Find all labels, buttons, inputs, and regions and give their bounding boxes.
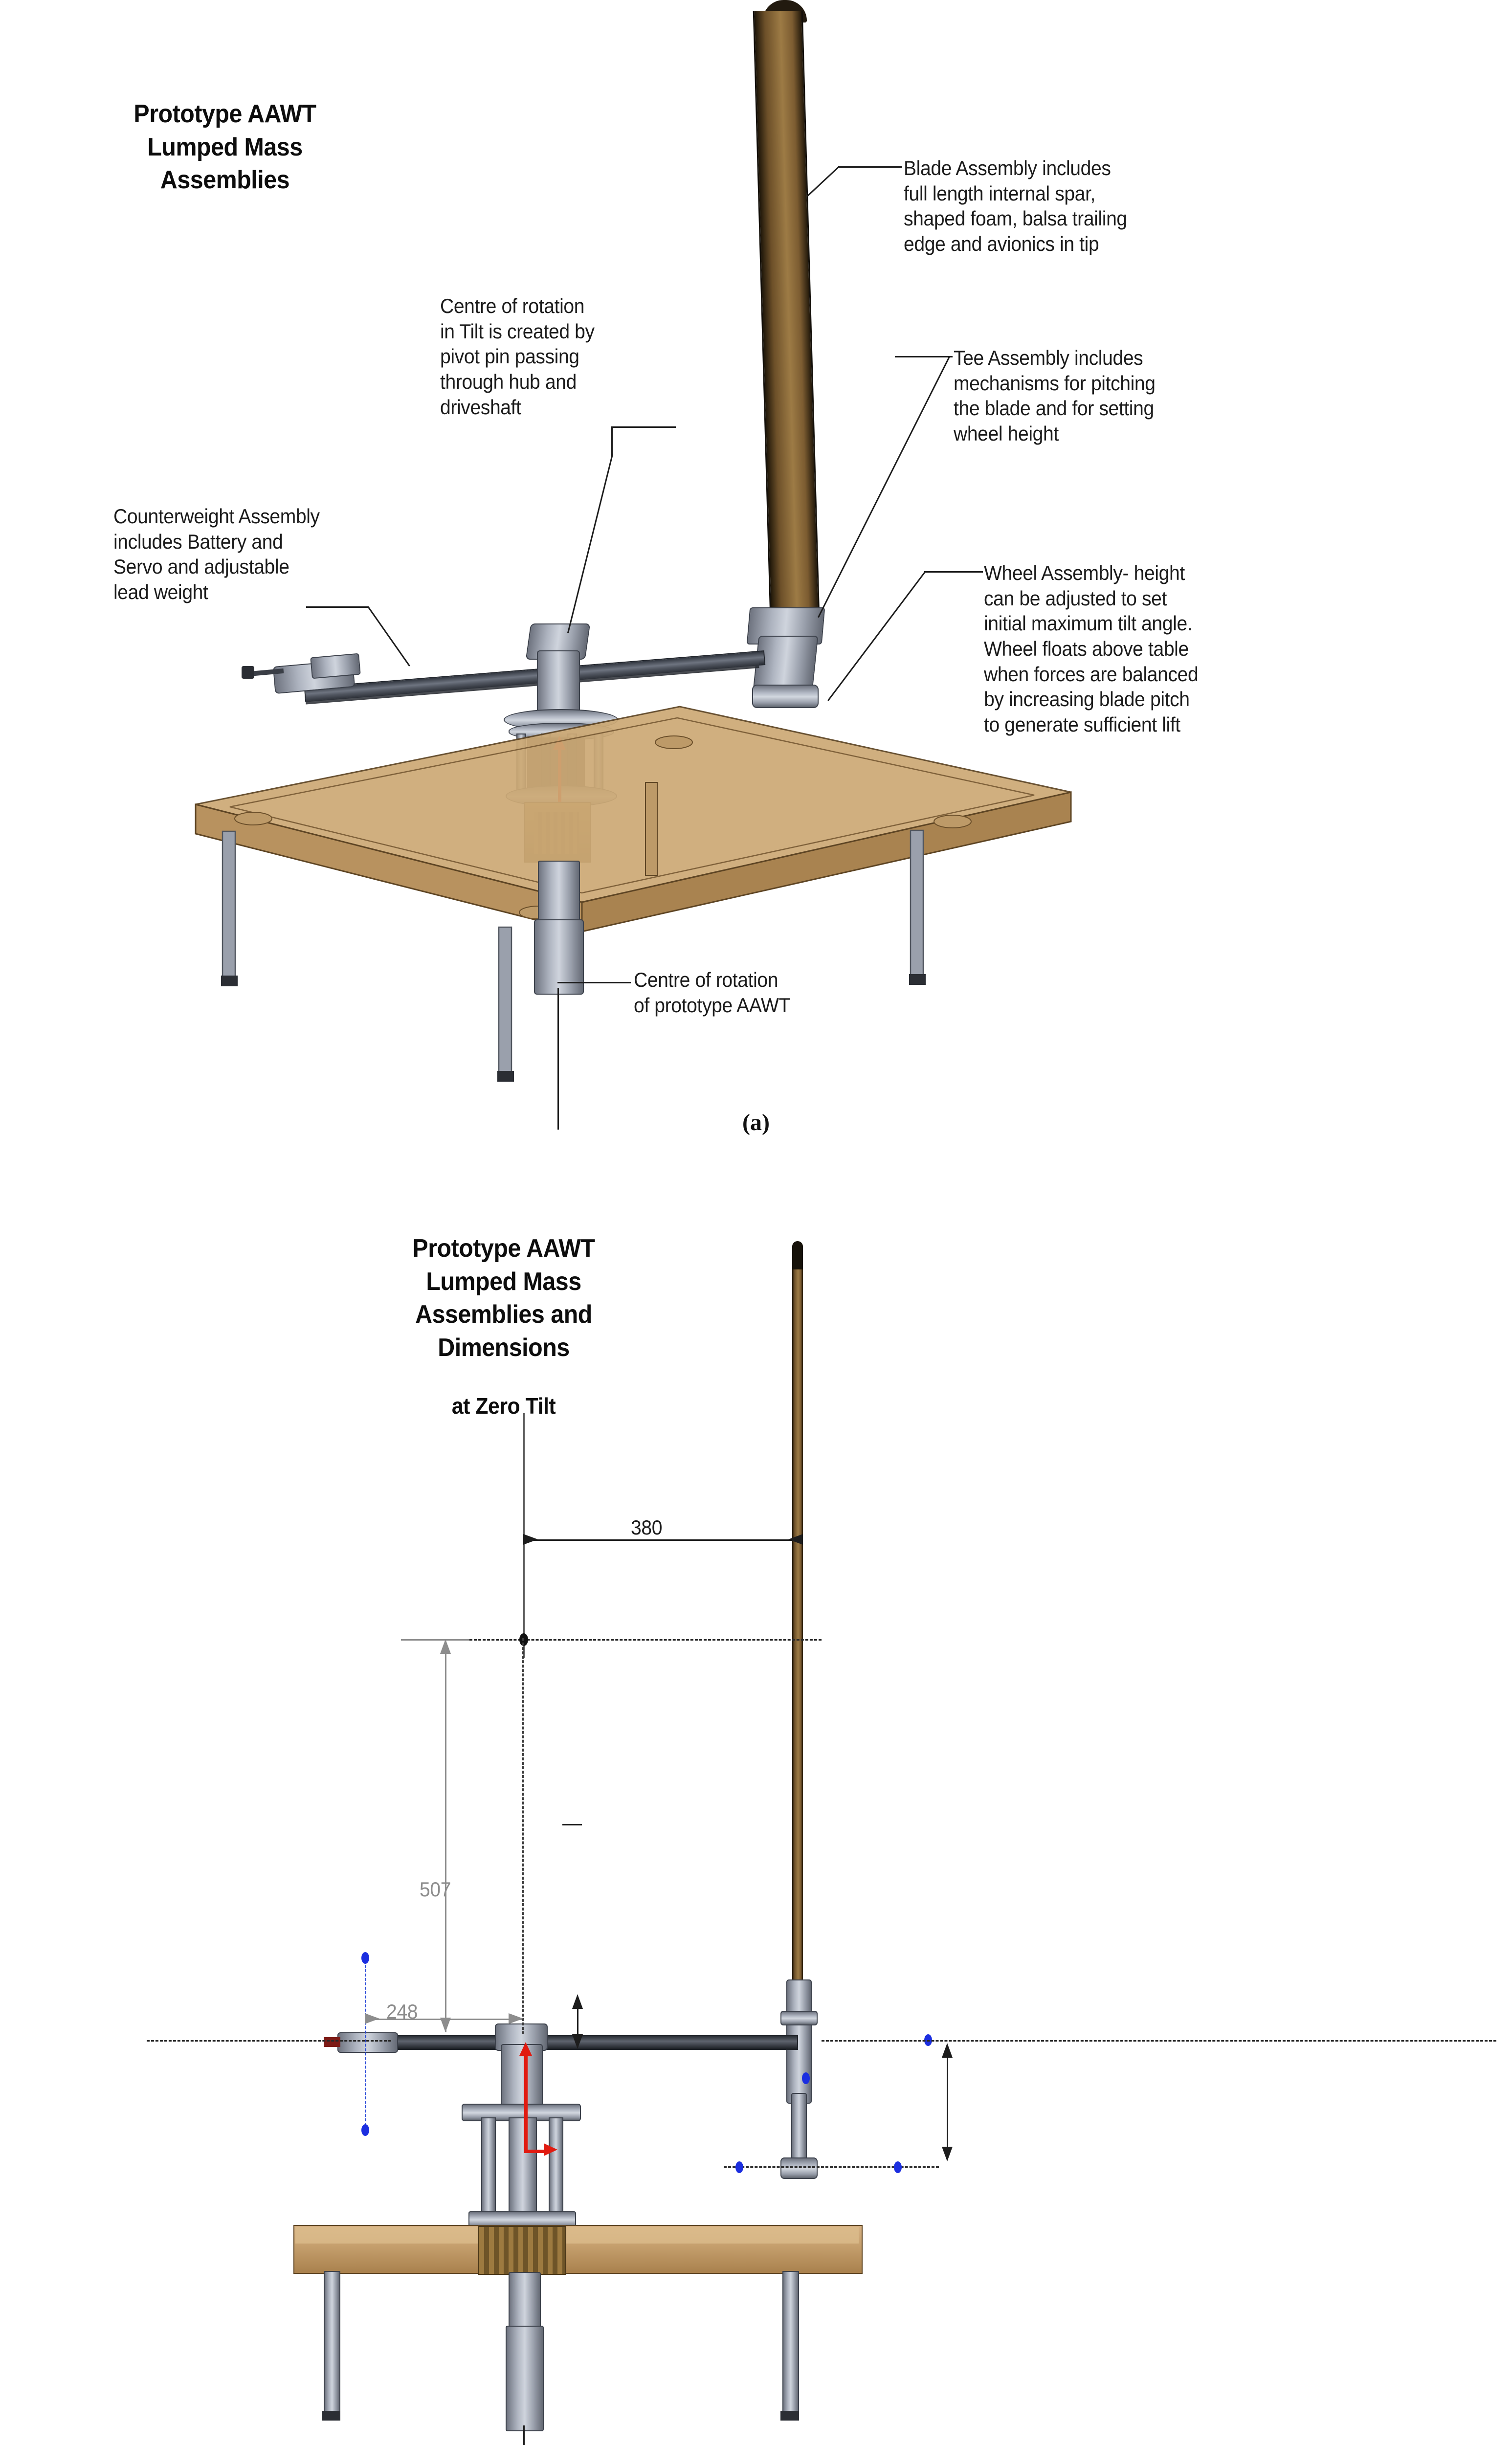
counterweight-centreline-dot-top — [361, 1952, 369, 1964]
leader-wheel-a-h — [924, 571, 983, 573]
counterweight-lead-a — [242, 666, 254, 679]
com-arrow-head-a — [553, 736, 566, 750]
blade-body-a — [753, 11, 820, 617]
rotation-axis-line-a — [557, 988, 559, 1130]
driveshaft-lower-b — [509, 2272, 541, 2333]
figure-b-title: Prototype AAWT Lumped Mass Assemblies an… — [322, 1232, 686, 1364]
main-horizontal-axis-b — [822, 2040, 1496, 2042]
hub-cage-pillar-4 — [594, 733, 603, 794]
dim-248-arrow-right — [509, 2013, 523, 2024]
wheel-mount-a — [752, 685, 819, 708]
dim-507-arrow-up — [440, 1639, 451, 1654]
leader-tilt-a-h — [611, 426, 676, 428]
dim-507-ext-top — [401, 1639, 469, 1641]
gearbox-b — [478, 2226, 566, 2275]
annotation-blade-a: Blade Assembly includes full length inte… — [904, 156, 1277, 257]
driveshaft-upper-a — [537, 650, 580, 716]
dim-380-arrow-left — [523, 1534, 538, 1545]
figure-b: Prototype AAWT Lumped Mass Assemblies an… — [0, 1174, 1512, 2445]
figure-a-caption-text: (a) — [742, 1110, 770, 1135]
tee-collar-b — [780, 2011, 818, 2025]
pivot-centre-dot-b — [519, 1633, 528, 1646]
table-foot-left-b — [322, 2411, 340, 2421]
blade-body-b — [792, 1269, 803, 1987]
leader-tilt-a-diag — [567, 453, 613, 633]
figure-a-title: Prototype AAWT Lumped Mass Assemblies — [84, 98, 366, 197]
figure-b-subtitle: at Zero Tilt — [322, 1393, 686, 1419]
leader-wheel-a-diag — [827, 571, 926, 701]
leader-cw-a-diag — [368, 606, 410, 667]
annotation-wheel-a: Wheel Assembly- height can be adjusted t… — [984, 560, 1384, 737]
pivot-vertical-dashdot-b — [522, 1638, 524, 2034]
hub-cage-right-b — [549, 2117, 563, 2217]
leader-tee-a-diag — [818, 356, 950, 618]
hub-cage-left-b — [481, 2117, 496, 2217]
dim-507-label: 507 — [420, 1878, 451, 1901]
annotation-tee-a: Tee Assembly includes mechanisms for pit… — [954, 345, 1308, 446]
dim-380-arrow-right — [788, 1534, 803, 1545]
motor-housing-b — [506, 2326, 544, 2431]
annotation-counterweight-a: Counterweight Assembly includes Battery … — [113, 504, 396, 605]
wheel-dot-left — [735, 2161, 743, 2173]
counterweight-lead-b — [324, 2037, 340, 2047]
leader-rot-a-h2 — [557, 982, 631, 983]
leader-cw-a-h — [306, 606, 369, 608]
annotation-tilt-centre-a: Centre of rotation in Tilt is created by… — [440, 293, 713, 420]
dim-116-arrow-up — [942, 2043, 953, 2058]
hub-core-b — [509, 2117, 537, 2217]
table-top-highlight-b — [295, 2227, 859, 2244]
tee-arm-b — [386, 2035, 798, 2050]
driveshaft-lower-a — [538, 861, 580, 926]
counterweight-centreline-dot-bottom — [361, 2124, 369, 2136]
dim-380-line — [523, 1539, 802, 1541]
table-foot-right-b — [780, 2411, 799, 2421]
main-horizontal-axis-left-b — [147, 2040, 391, 2042]
leader-blade-a-diag — [807, 166, 839, 197]
dim-248-label: 248 — [386, 2000, 418, 2023]
com-arrow-head-right-b — [544, 2143, 557, 2156]
wheel-dot-right — [894, 2161, 902, 2173]
dim-380-label: 380 — [631, 1516, 662, 1539]
dim-889-arrow-up — [572, 1994, 583, 2009]
tee-dot-mid — [802, 2072, 810, 2084]
leader-tilt-a-v — [611, 426, 613, 456]
hub-cage-pillar-1 — [516, 733, 526, 794]
com-arrow-shaft-h-b — [524, 2150, 545, 2153]
table-leg-left-b — [324, 2271, 340, 2416]
annotation-rotation-centre-a: Centre of rotation of prototype AAWT — [634, 967, 907, 1018]
com-arrow-head-up-b — [519, 2042, 532, 2056]
gearbox-detail-a — [534, 812, 579, 854]
dim-889-leader-h — [562, 1824, 582, 1825]
rotation-axis-line-b — [523, 2425, 525, 2445]
leader-blade-a-h — [838, 166, 902, 168]
figure-a-caption: (a) — [707, 1109, 805, 1136]
figure-a: Prototype AAWT Lumped Mass Assemblies — [0, 0, 1512, 1174]
dim-116-line — [947, 2050, 948, 2160]
dim-248-arrow-left — [365, 2013, 379, 2024]
wheel-centreline-b — [724, 2166, 939, 2168]
counterweight-centreline-b — [365, 1956, 366, 2130]
counterweight-body-b — [337, 2032, 398, 2053]
dim-507-line — [445, 1646, 446, 2032]
dim-889-arrow-down — [572, 2034, 583, 2049]
dim-116-arrow-down — [942, 2147, 953, 2161]
leader-tee-a-h — [895, 356, 953, 357]
com-arrow-shaft-b — [524, 2054, 528, 2152]
table-leg-right-b — [782, 2271, 799, 2416]
wheel-hub-b — [780, 2157, 818, 2179]
